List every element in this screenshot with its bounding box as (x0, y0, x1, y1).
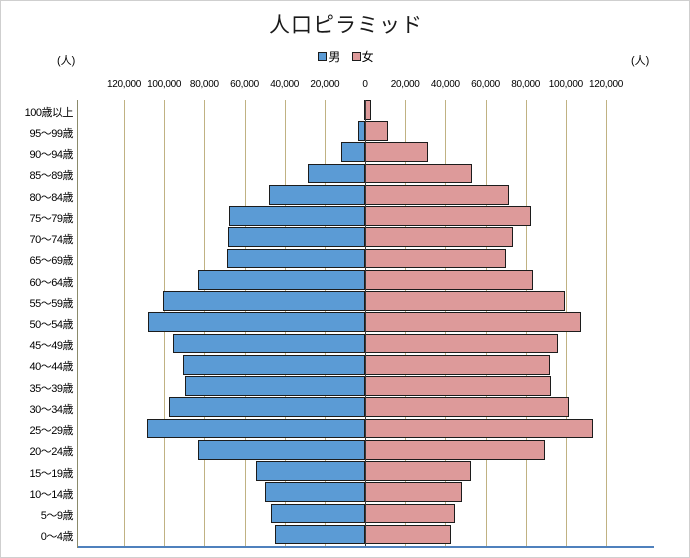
bar-male[interactable] (271, 504, 365, 524)
bar-female[interactable] (365, 206, 531, 226)
bar-row (78, 461, 654, 482)
plot-area (78, 100, 654, 548)
bar-male[interactable] (358, 121, 365, 141)
y-axis-tick-labels: 100歳以上95～99歳90～94歳85～89歳80～84歳75～79歳70～7… (1, 100, 76, 546)
bar-female[interactable] (365, 355, 550, 375)
bar-female[interactable] (365, 312, 581, 332)
x-axis-unit-right: (人) (631, 52, 649, 68)
bar-female[interactable] (365, 397, 569, 417)
bar-female[interactable] (365, 227, 513, 247)
bar-row (78, 376, 654, 397)
bar-row (78, 142, 654, 163)
bar-male[interactable] (173, 334, 365, 354)
bar-male[interactable] (147, 419, 365, 439)
bar-row (78, 482, 654, 503)
x-axis-tick-labels: 120,000100,00080,00060,00040,00020,00002… (1, 79, 690, 93)
x-tick-label: 40,000 (431, 79, 460, 90)
bar-male[interactable] (256, 461, 365, 481)
bar-male[interactable] (275, 525, 365, 545)
bar-row (78, 185, 654, 206)
x-tick-label: 100,000 (549, 79, 583, 90)
bar-male[interactable] (269, 185, 365, 205)
bar-female[interactable] (365, 376, 551, 396)
x-tick-label: 20,000 (391, 79, 420, 90)
y-tick-label: 25～29歳 (30, 422, 73, 438)
bar-row (78, 312, 654, 333)
bar-row (78, 504, 654, 525)
bar-row (78, 227, 654, 248)
bar-male[interactable] (169, 397, 365, 417)
x-tick-label: 60,000 (230, 79, 259, 90)
bar-female[interactable] (365, 291, 565, 311)
x-tick-label: 60,000 (471, 79, 500, 90)
x-axis-unit-left: (人) (57, 52, 75, 68)
bar-row (78, 355, 654, 376)
bar-row (78, 291, 654, 312)
legend-swatch-female (352, 52, 361, 61)
y-tick-label: 100歳以上 (25, 104, 73, 120)
x-tick-label: 0 (362, 79, 367, 90)
bar-female[interactable] (365, 334, 558, 354)
bar-female[interactable] (365, 419, 593, 439)
legend-item-female[interactable]: 女 (352, 51, 374, 64)
legend-label-female: 女 (362, 51, 374, 64)
x-tick-label: 80,000 (190, 79, 219, 90)
y-tick-label: 80～84歳 (30, 189, 73, 205)
y-tick-label: 35～39歳 (30, 380, 73, 396)
bar-row (78, 206, 654, 227)
bar-male[interactable] (341, 142, 365, 162)
bar-female[interactable] (365, 482, 462, 502)
bar-female[interactable] (365, 142, 428, 162)
bar-row (78, 100, 654, 121)
bar-female[interactable] (365, 121, 388, 141)
bar-female[interactable] (365, 249, 506, 269)
bar-row (78, 419, 654, 440)
bar-male[interactable] (229, 206, 365, 226)
y-tick-label: 5～9歳 (41, 507, 73, 523)
legend-swatch-male (318, 52, 327, 61)
y-tick-label: 95～99歳 (30, 125, 73, 141)
y-tick-label: 45～49歳 (30, 337, 73, 353)
y-tick-label: 50～54歳 (30, 316, 73, 332)
bar-female[interactable] (365, 504, 455, 524)
bar-row (78, 525, 654, 546)
x-tick-label: 120,000 (107, 79, 141, 90)
bar-female[interactable] (365, 164, 472, 184)
y-tick-label: 65～69歳 (30, 252, 73, 268)
bar-row (78, 121, 654, 142)
bar-female[interactable] (365, 185, 509, 205)
bar-male[interactable] (265, 482, 365, 502)
bar-male[interactable] (308, 164, 365, 184)
bar-male[interactable] (183, 355, 365, 375)
x-tick-label: 20,000 (310, 79, 339, 90)
bar-male[interactable] (198, 270, 365, 290)
bar-row (78, 334, 654, 355)
bar-row (78, 440, 654, 461)
zero-axis-line (365, 100, 366, 546)
x-tick-label: 100,000 (147, 79, 181, 90)
page-title: 人口ピラミッド (1, 9, 690, 39)
bar-row (78, 270, 654, 291)
bar-female[interactable] (365, 440, 545, 460)
y-tick-label: 70～74歳 (30, 231, 73, 247)
bar-row (78, 249, 654, 270)
y-tick-label: 40～44歳 (30, 358, 73, 374)
bar-male[interactable] (227, 249, 365, 269)
x-tick-label: 40,000 (270, 79, 299, 90)
y-tick-label: 60～64歳 (30, 274, 73, 290)
bar-male[interactable] (148, 312, 365, 332)
bar-female[interactable] (365, 525, 451, 545)
bar-male[interactable] (185, 376, 365, 396)
bar-male[interactable] (198, 440, 365, 460)
y-tick-label: 10～14歳 (30, 486, 73, 502)
chart-legend: 男 女 (1, 51, 690, 64)
bar-row (78, 164, 654, 185)
bar-female[interactable] (365, 461, 471, 481)
y-tick-label: 0～4歳 (41, 528, 73, 544)
legend-item-male[interactable]: 男 (318, 51, 340, 64)
bar-male[interactable] (163, 291, 365, 311)
x-tick-label: 80,000 (511, 79, 540, 90)
y-tick-label: 30～34歳 (30, 401, 73, 417)
y-tick-label: 15～19歳 (30, 465, 73, 481)
y-tick-label: 85～89歳 (30, 167, 73, 183)
y-tick-label: 20～24歳 (30, 443, 73, 459)
chart-page: 人口ピラミッド 男 女 (人) (人) 120,000100,00080,000… (0, 0, 690, 558)
y-tick-label: 75～79歳 (30, 210, 73, 226)
legend-label-male: 男 (328, 51, 340, 64)
bar-female[interactable] (365, 270, 533, 290)
y-tick-label: 55～59歳 (30, 295, 73, 311)
bar-male[interactable] (228, 227, 365, 247)
y-tick-label: 90～94歳 (30, 146, 73, 162)
bar-row (78, 397, 654, 418)
x-tick-label: 120,000 (589, 79, 623, 90)
